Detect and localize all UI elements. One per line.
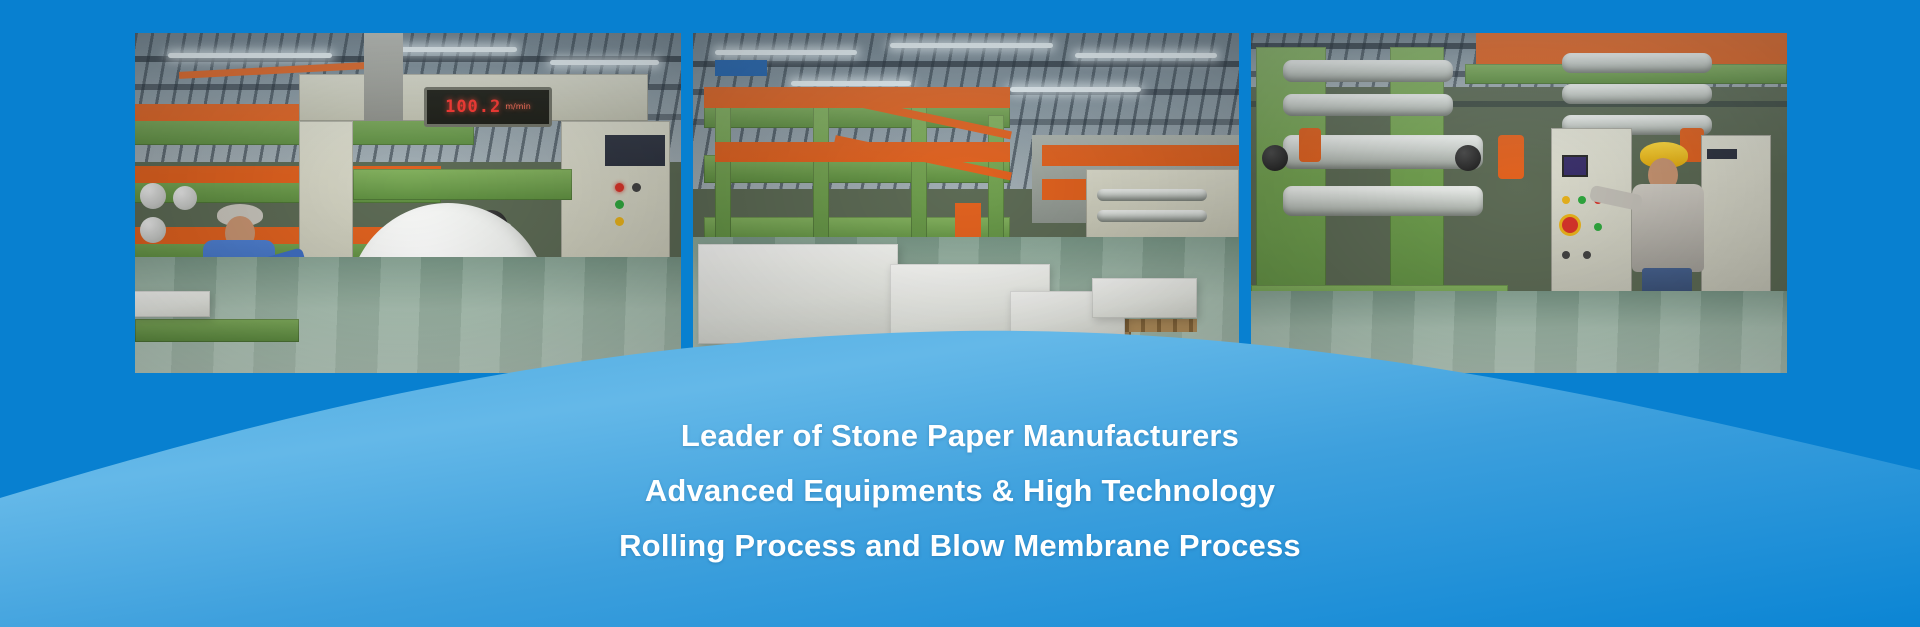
worker-jacket	[1632, 184, 1704, 272]
photo-rewinder-operator: 100.2 m/min	[135, 33, 681, 373]
headline-block: Leader of Stone Paper Manufacturers Adva…	[0, 408, 1920, 573]
headline-line-2: Advanced Equipments & High Technology	[0, 463, 1920, 518]
photo-calender-control	[1251, 33, 1787, 373]
paper-sheet-stack	[698, 244, 898, 344]
emergency-stop-button	[1562, 217, 1578, 233]
headline-line-1: Leader of Stone Paper Manufacturers	[0, 408, 1920, 463]
photo-production-line-hall	[693, 33, 1239, 373]
worker-with-hardhat	[1626, 142, 1722, 312]
led-speed-unit: m/min	[505, 103, 531, 111]
hmi-touchscreen	[1562, 155, 1588, 177]
hero-banner: 100.2 m/min	[0, 0, 1920, 627]
photo-strip: 100.2 m/min	[135, 33, 1787, 373]
led-speed-value: 100.2	[445, 97, 501, 117]
led-speed-display: 100.2 m/min	[424, 87, 551, 127]
headline-line-3: Rolling Process and Blow Membrane Proces…	[0, 518, 1920, 573]
